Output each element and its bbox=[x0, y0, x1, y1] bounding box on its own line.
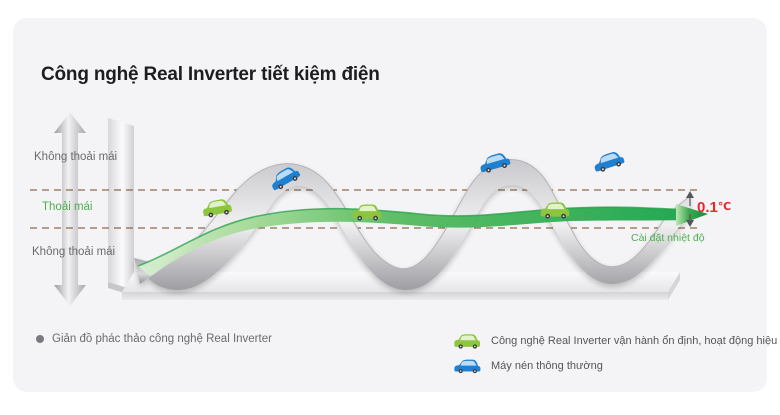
green-car-icon bbox=[452, 333, 482, 349]
axis-label-uncomfortable-bottom: Không thoải mái bbox=[32, 246, 115, 258]
setpoint-label: Cài đặt nhiệt độ bbox=[631, 232, 705, 244]
legend-item-real-inverter: Công nghệ Real Inverter vận hành ổn định… bbox=[452, 330, 780, 351]
marker-blue-car-3 bbox=[592, 149, 626, 173]
legend-label-real-inverter: Công nghệ Real Inverter vận hành ổn định… bbox=[491, 335, 780, 347]
footnote: Giản đồ phác thảo công nghệ Real Inverte… bbox=[36, 333, 272, 345]
temperature-value: 0.1 bbox=[697, 199, 718, 216]
axis-label-uncomfortable-top: Không thoải mái bbox=[34, 151, 117, 163]
legend: Công nghệ Real Inverter vận hành ổn định… bbox=[452, 330, 780, 376]
marker-green-car-2 bbox=[353, 205, 382, 221]
axis-label-comfortable: Thoải mái bbox=[42, 201, 93, 213]
footnote-text: Giản đồ phác thảo công nghệ Real Inverte… bbox=[52, 333, 272, 345]
legend-item-conventional: Máy nén thông thường bbox=[452, 355, 780, 376]
temperature-delta-badge: 0.1℃ bbox=[697, 199, 731, 216]
blue-car-icon bbox=[452, 358, 482, 374]
degree-unit: ℃ bbox=[718, 201, 731, 213]
axis-wall bbox=[108, 118, 134, 296]
bullet-dot-icon bbox=[36, 335, 44, 343]
legend-label-conventional: Máy nén thông thường bbox=[491, 360, 603, 372]
